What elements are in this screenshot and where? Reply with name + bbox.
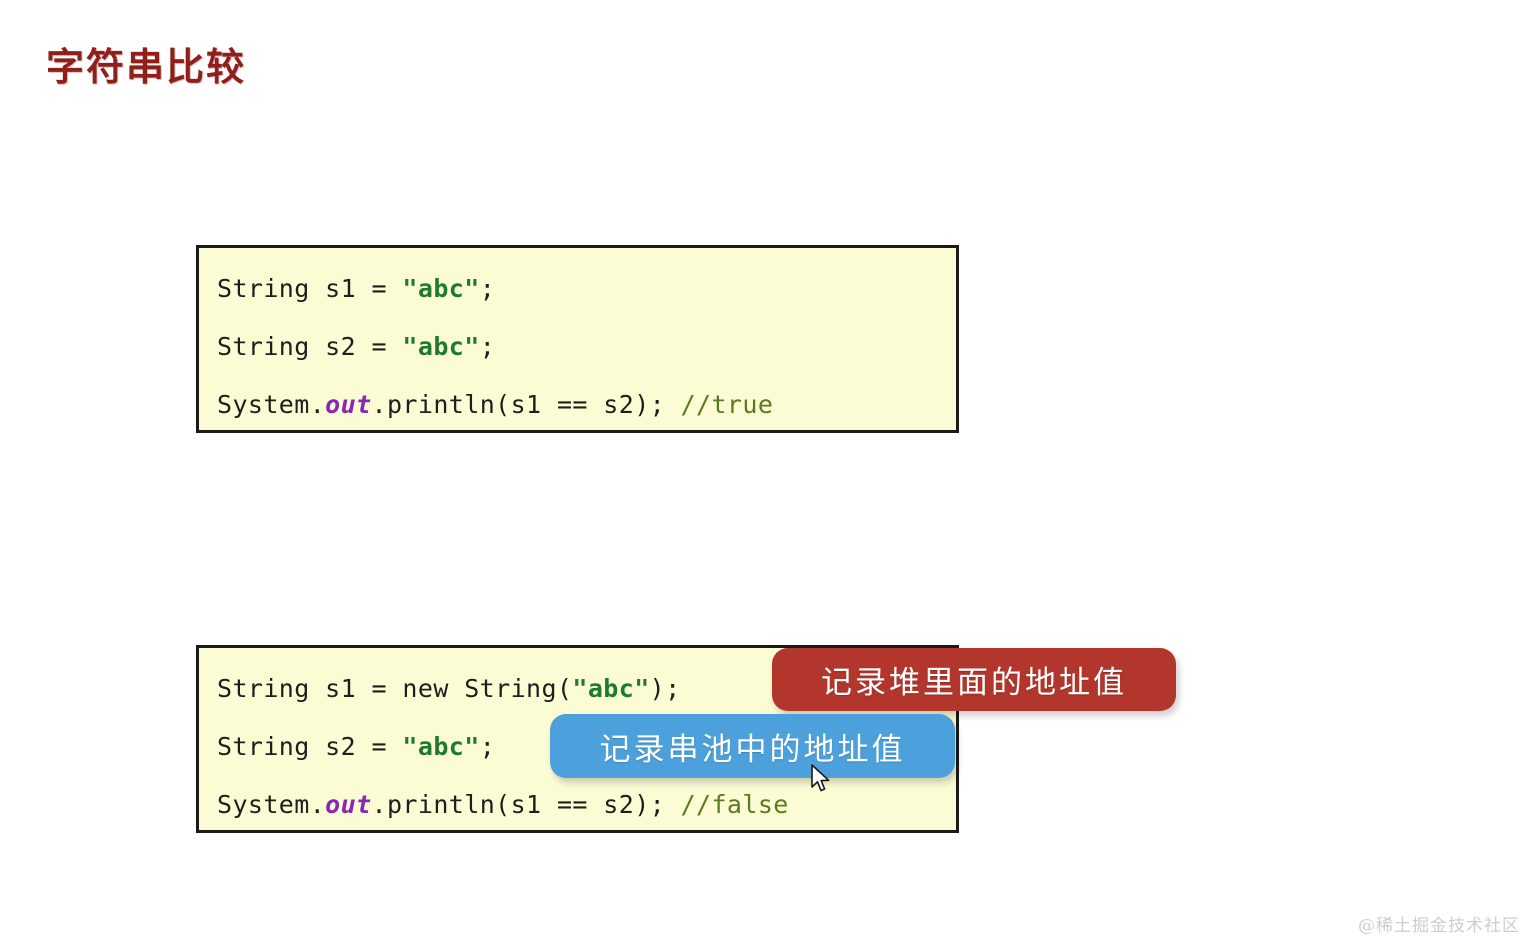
callout-heap-label: 记录堆里面的地址值: [821, 657, 1127, 702]
code-token-plain: );: [650, 674, 681, 703]
code-token-plain: ;: [480, 332, 495, 361]
code-line: System.out.println(s1 == s2); //false: [217, 786, 956, 824]
code-token-plain: String s2 =: [217, 732, 402, 761]
code-token-comment: //false: [681, 790, 789, 819]
code-token-field: out: [325, 390, 371, 419]
code-line: System.out.println(s1 == s2); //true: [217, 386, 956, 424]
code-token-string: "abc": [402, 732, 479, 761]
code-token-field: out: [325, 790, 371, 819]
code-token-plain: .println(s1 == s2);: [372, 790, 681, 819]
code-line: String s1 = "abc";: [217, 270, 956, 328]
callout-string-pool-address: 记录串池中的地址值: [550, 714, 955, 778]
code-token-string: "abc": [402, 332, 479, 361]
code-token-comment: //true: [681, 390, 774, 419]
code-line: String s2 = "abc";: [217, 328, 956, 386]
code-token-plain: System.: [217, 390, 325, 419]
code-token-plain: String s2 =: [217, 332, 402, 361]
code-block-string-literals: String s1 = "abc"; String s2 = "abc"; Sy…: [196, 245, 959, 433]
code-token-plain: ;: [480, 274, 495, 303]
code-token-string: "abc": [402, 274, 479, 303]
code-token-plain: ;: [480, 732, 495, 761]
callout-pool-label: 记录串池中的地址值: [600, 724, 906, 769]
code-token-plain: String s1 = new String(: [217, 674, 572, 703]
watermark: @稀土掘金技术社区: [1358, 911, 1520, 936]
page-title: 字符串比较: [46, 36, 246, 91]
code-token-plain: .println(s1 == s2);: [372, 390, 681, 419]
callout-heap-address: 记录堆里面的地址值: [772, 648, 1176, 711]
code-token-plain: String s1 =: [217, 274, 402, 303]
code-token-string: "abc": [572, 674, 649, 703]
code-token-plain: System.: [217, 790, 325, 819]
